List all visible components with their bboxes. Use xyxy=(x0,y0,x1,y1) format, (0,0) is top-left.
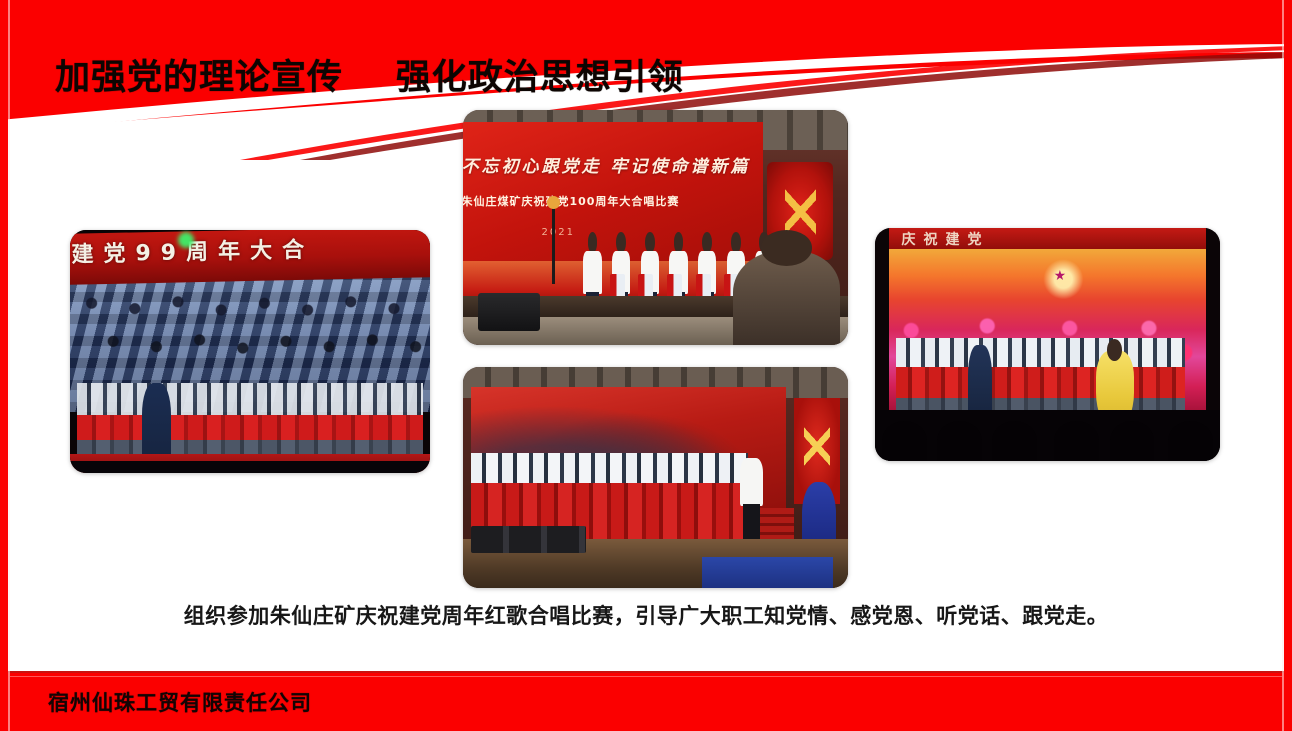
photo2-backdrop-line1: 不忘初心跟党走 牢记使命谱新篇 xyxy=(463,152,757,177)
photo1-banner-text: 建党99周年大合 xyxy=(71,230,429,269)
photo4-row-red-tops xyxy=(896,367,1186,401)
frame-border-right xyxy=(1284,0,1292,731)
photo1-audience-silhouette xyxy=(70,461,430,473)
slide-caption: 组织参加朱仙庄矿庆祝建党周年红歌合唱比赛，引导广大职工知党情、感党恩、听党话、跟… xyxy=(0,600,1292,630)
photo2-microphone-stand xyxy=(552,204,555,284)
frame-inner-line-left xyxy=(8,0,10,731)
photo3-hammer-sickle-icon xyxy=(804,421,830,472)
photo3-conductor xyxy=(740,458,763,551)
frame-border-left xyxy=(0,0,8,731)
footer-divider xyxy=(10,676,1282,677)
photo1-choir-rows xyxy=(70,383,430,458)
photo-floral-backdrop-choir: 庆祝建党 xyxy=(875,228,1220,461)
photo-red-gown-choir xyxy=(463,367,848,588)
photo4-stage-banner: 庆祝建党 xyxy=(889,228,1206,251)
photo3-blue-judge-table xyxy=(702,557,833,588)
photo2-backdrop-line2: 朱仙庄煤矿庆祝建党100周年大合唱比赛 xyxy=(463,193,757,209)
photo-award-ceremony: 不忘初心跟党走 牢记使命谱新篇 朱仙庄煤矿庆祝建党100周年大合唱比赛 2021 xyxy=(463,110,848,345)
photo4-audience-silhouettes xyxy=(875,410,1220,461)
photo3-stage-monitors xyxy=(471,526,587,553)
page-title: 加强党的理论宣传 强化政治思想引领 xyxy=(55,49,684,100)
slide-root: 加强党的理论宣传 强化政治思想引领 建党99周年大合 xyxy=(0,0,1292,731)
photo-choir-99th-anniversary: 建党99周年大合 xyxy=(70,230,430,473)
photo2-stage-speaker xyxy=(478,293,540,331)
photo1-stage-banner: 建党99周年大合 xyxy=(70,230,430,285)
frame-inner-line-right xyxy=(1282,0,1284,731)
photo4-banner-text: 庆祝建党 xyxy=(901,229,989,249)
company-name: 宿州仙珠工贸有限责任公司 xyxy=(48,687,312,717)
photo2-foreground-photographer xyxy=(733,251,841,345)
footer-bar: 宿州仙珠工贸有限责任公司 xyxy=(0,671,1292,731)
